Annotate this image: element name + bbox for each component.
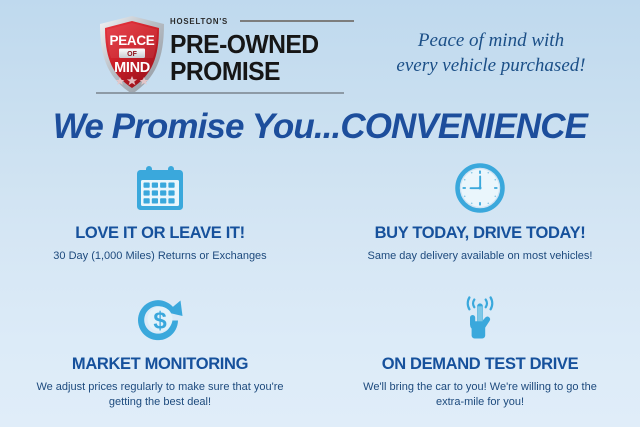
promise-description: Same day delivery available on most vehi…: [350, 249, 610, 264]
promise-item-on-demand-test-drive: ON DEMAND TEST DRIVE We'll bring the car…: [320, 289, 640, 420]
brand-lockup: PEACE OF MIND HOSELTON'S PRE-OWNED: [96, 12, 354, 100]
promise-description: 30 Day (1,000 Miles) Returns or Exchange…: [30, 249, 290, 264]
tagline-line-2: every vehicle purchased!: [358, 53, 624, 78]
header: PEACE OF MIND HOSELTON'S PRE-OWNED: [0, 0, 640, 104]
promise-title: LOVE IT OR LEAVE IT!: [75, 224, 245, 243]
calendar-icon: [135, 160, 185, 216]
promise-item-buy-today-drive-today: BUY TODAY, DRIVE TODAY! Same day deliver…: [320, 158, 640, 289]
promise-description: We adjust prices regularly to make sure …: [30, 380, 290, 410]
tagline-line-1: Peace of mind with: [358, 28, 624, 53]
tap-hand-icon: [455, 291, 505, 347]
promise-grid: LOVE IT OR LEAVE IT! 30 Day (1,000 Miles…: [0, 158, 640, 420]
brand-line-1: PRE-OWNED: [170, 31, 345, 57]
promise-item-market-monitoring: $ MARKET MONITORING We adjust prices reg…: [0, 289, 320, 420]
promise-description: We'll bring the car to you! We're willin…: [350, 380, 610, 410]
promise-item-love-it-or-leave-it: LOVE IT OR LEAVE IT! 30 Day (1,000 Miles…: [0, 158, 320, 289]
promise-title: ON DEMAND TEST DRIVE: [382, 355, 579, 374]
svg-text:$: $: [153, 308, 167, 335]
brand-eyebrow-row: HOSELTON'S: [170, 14, 354, 28]
header-tagline: Peace of mind with every vehicle purchas…: [358, 28, 624, 78]
eyebrow-divider: [240, 20, 354, 22]
svg-text:PEACE: PEACE: [109, 33, 154, 48]
promise-infographic: PEACE OF MIND HOSELTON'S PRE-OWNED: [0, 0, 640, 427]
shield-icon: PEACE OF MIND: [96, 14, 168, 98]
svg-text:OF: OF: [127, 51, 137, 58]
dollar-refresh-icon: $: [135, 291, 185, 347]
promise-title: MARKET MONITORING: [72, 355, 248, 374]
svg-text:MIND: MIND: [114, 60, 150, 76]
brand-line-2: PROMISE: [170, 58, 345, 84]
brand-eyebrow: HOSELTON'S: [170, 16, 228, 26]
page-title: We Promise You...CONVENIENCE: [0, 107, 640, 147]
header-divider: [96, 92, 344, 94]
promise-title: BUY TODAY, DRIVE TODAY!: [375, 224, 586, 243]
clock-icon: [455, 160, 505, 216]
peace-of-mind-shield-logo: PEACE OF MIND: [96, 14, 168, 98]
brand-wordmark: HOSELTON'S PRE-OWNED PROMISE: [170, 12, 354, 84]
